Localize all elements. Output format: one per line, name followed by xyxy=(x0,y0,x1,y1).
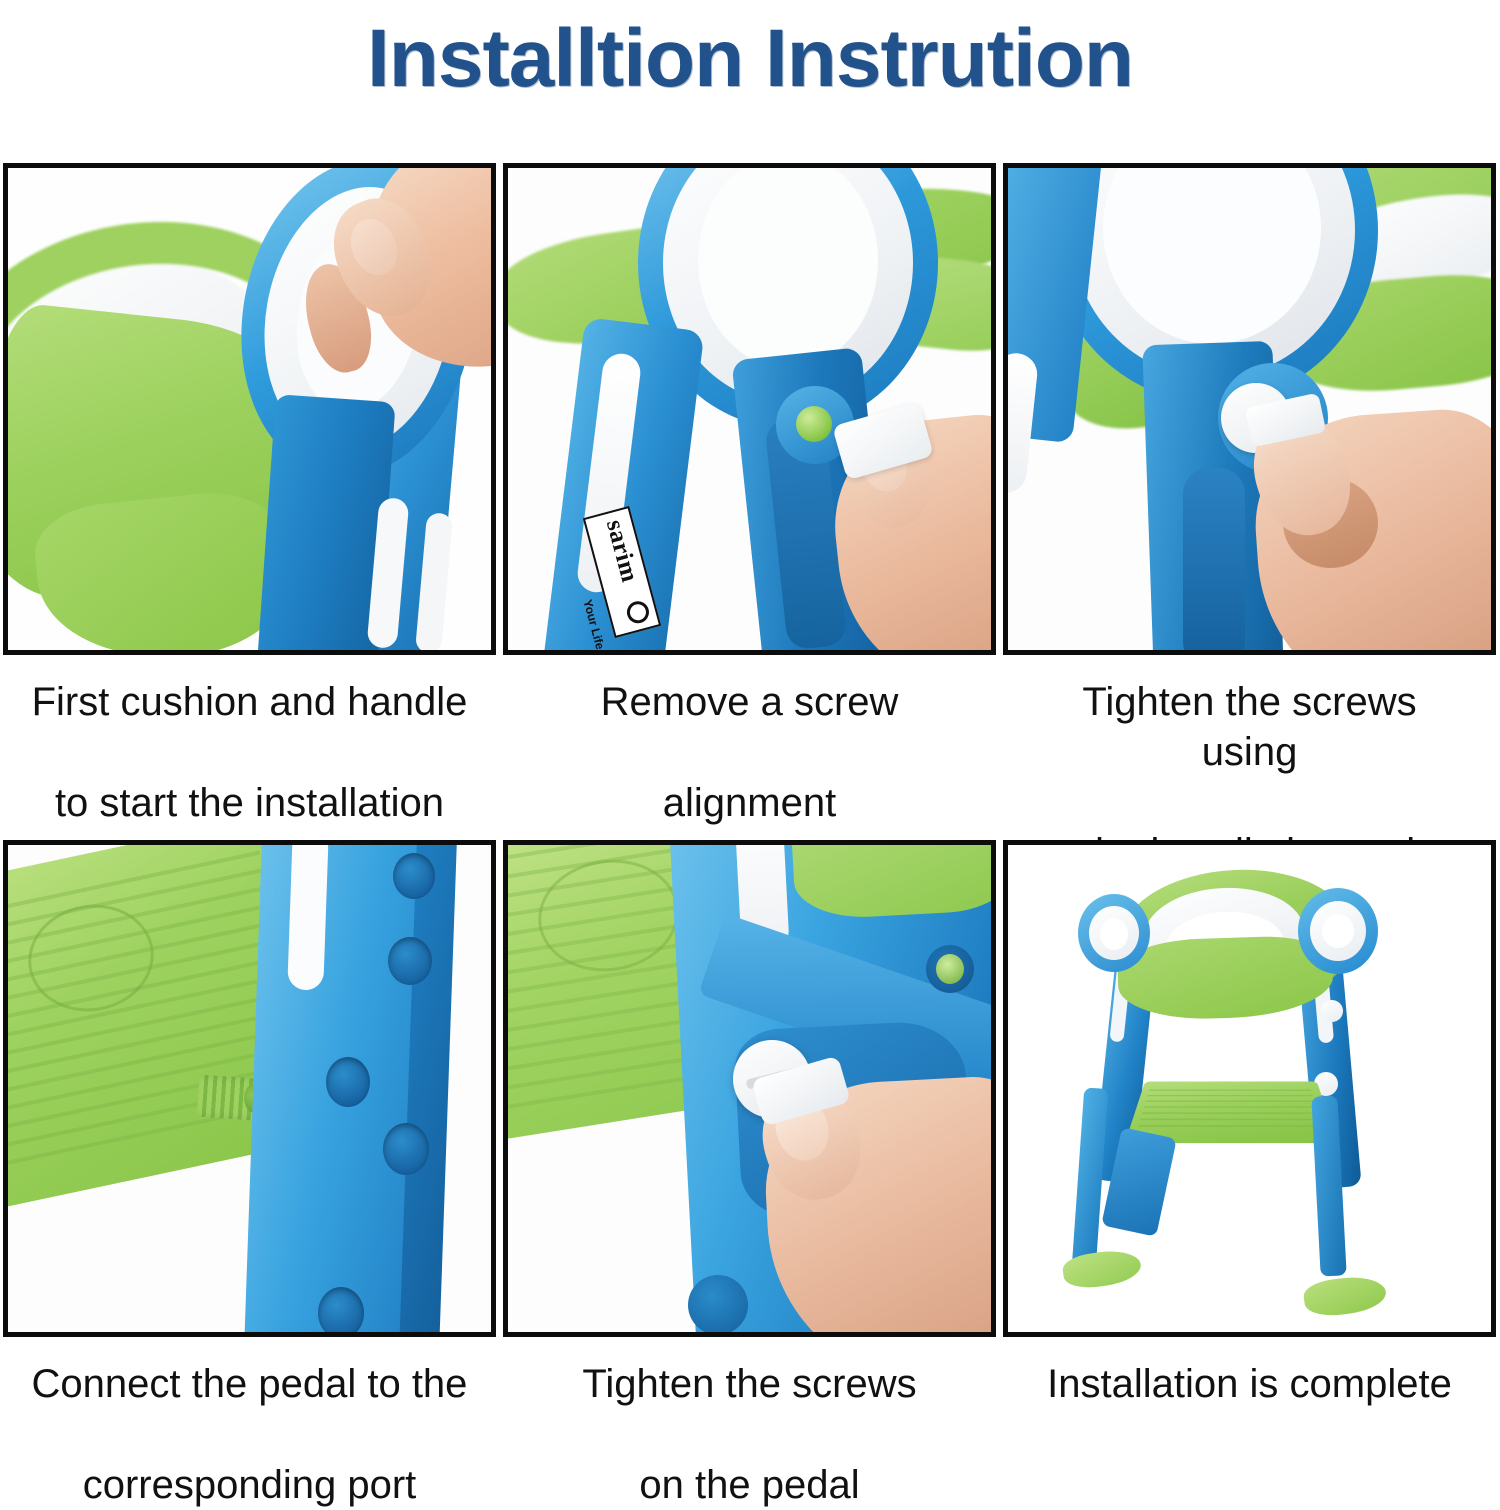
step-caption-4: Connect the pedal to the corresponding p… xyxy=(3,1337,496,1502)
caption-line-1: Tighten the screws using xyxy=(1030,677,1470,778)
step-caption-5: Tighten the screws on the pedal xyxy=(503,1337,996,1502)
step-image-3 xyxy=(1003,163,1496,655)
step-1-scene xyxy=(8,168,491,650)
steps-grid: sarim Your Life Perfect xyxy=(3,163,1497,1502)
rail-port-5 xyxy=(318,1287,364,1337)
instruction-sheet: Installtion Instrution xyxy=(0,0,1500,1500)
handle-ring-hole xyxy=(698,163,878,368)
step-image-2: sarim Your Life Perfect xyxy=(503,163,996,655)
handle-right xyxy=(1298,888,1378,974)
caption-line-1: Installation is complete xyxy=(1047,1359,1452,1409)
step-4-scene xyxy=(8,845,491,1332)
step-caption-1: First cushion and handle to start the in… xyxy=(3,655,496,840)
handle-left xyxy=(1078,894,1150,972)
caption-text-6: Installation is complete xyxy=(1047,1359,1452,1409)
page-title: Installtion Instrution xyxy=(0,18,1500,100)
frame-lower-port xyxy=(688,1275,748,1335)
ladder-rail-white-slot xyxy=(287,840,329,991)
caption-line-2: alignment xyxy=(601,778,899,828)
frame-main-recess xyxy=(1183,468,1245,655)
caption-line-2: to start the installation xyxy=(32,778,468,828)
caption-text-2: Remove a screw alignment xyxy=(601,677,899,828)
step-5-scene xyxy=(508,845,991,1332)
caption-line-1: Remove a screw xyxy=(601,677,899,727)
rail-port-2 xyxy=(388,937,432,985)
caption-text-1: First cushion and handle to start the in… xyxy=(32,677,468,828)
seat-green-tail xyxy=(30,485,295,655)
foot-pad-right xyxy=(1302,1273,1388,1319)
caption-line-1: First cushion and handle xyxy=(32,677,468,727)
caption-line-2: corresponding port xyxy=(32,1460,468,1510)
step-caption-2: Remove a screw alignment xyxy=(503,655,996,840)
caption-text-5: Tighten the screws on the pedal xyxy=(582,1359,916,1510)
green-screw-port xyxy=(926,945,974,993)
step-6-scene xyxy=(1008,845,1491,1332)
brand-dot-icon xyxy=(624,599,651,626)
leg-fastener-1 xyxy=(1321,1000,1343,1022)
caption-text-4: Connect the pedal to the corresponding p… xyxy=(32,1359,468,1510)
step-caption-3: Tighten the screws using the installatio… xyxy=(1003,655,1496,840)
caption-line-2: on the pedal xyxy=(582,1460,916,1510)
assembled-product xyxy=(1066,860,1436,1320)
caption-line-1: Connect the pedal to the xyxy=(32,1359,468,1409)
rail-port-4 xyxy=(383,1123,429,1175)
step-caption-6: Installation is complete xyxy=(1003,1337,1496,1502)
step-image-1 xyxy=(3,163,496,655)
step-tread-pattern xyxy=(1137,1086,1324,1132)
rail-port-3 xyxy=(326,1057,370,1107)
rail-port-1 xyxy=(393,853,435,899)
step-image-5 xyxy=(503,840,996,1337)
step-image-6 xyxy=(1003,840,1496,1337)
green-screw-hole xyxy=(796,406,832,442)
step-image-4 xyxy=(3,840,496,1337)
caption-line-1: Tighten the screws xyxy=(582,1359,916,1409)
seat-green-top xyxy=(790,840,996,921)
step-2-scene: sarim Your Life Perfect xyxy=(508,168,991,650)
step-3-scene xyxy=(1008,168,1491,650)
